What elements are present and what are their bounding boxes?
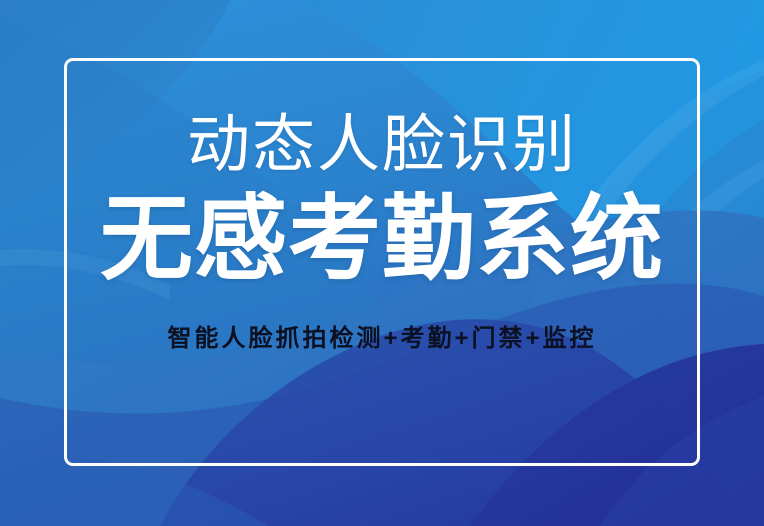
face-recognition-banner: 动态人脸识别 无感考勤系统 智能人脸抓拍检测+考勤+门禁+监控 [0, 0, 764, 526]
title-line-primary: 动态人脸识别 [187, 110, 577, 181]
banner-content: 动态人脸识别 无感考勤系统 智能人脸抓拍检测+考勤+门禁+监控 [0, 0, 764, 526]
banner-subtitle: 智能人脸抓拍检测+考勤+门禁+监控 [167, 325, 596, 354]
title-line-secondary: 无感考勤系统 [100, 189, 664, 289]
